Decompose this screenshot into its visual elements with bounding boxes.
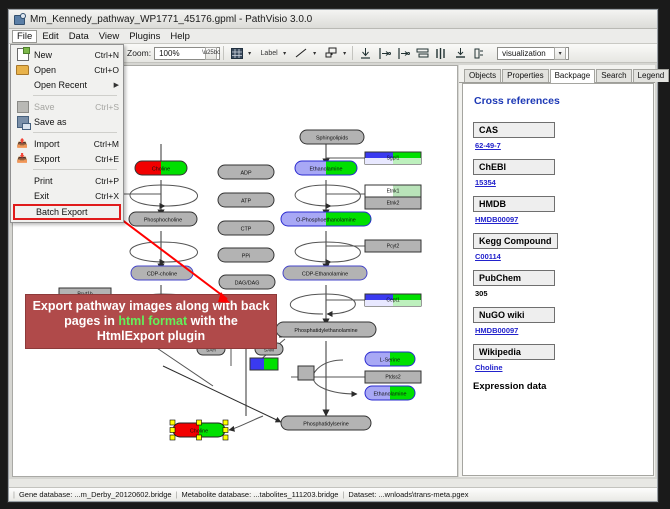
annotation-line-1: Export pathway images along with back [33, 299, 270, 314]
svg-text:Pcyt2: Pcyt2 [387, 244, 400, 250]
group-icon[interactable] [471, 45, 488, 61]
menu-item-print[interactable]: Print Ctrl+P [11, 173, 123, 188]
visualization-chevron-icon[interactable]: ▾ [554, 47, 566, 60]
menu-item-open-accel: Ctrl+O [88, 65, 119, 75]
shape-icon[interactable] [323, 45, 340, 61]
tab-objects[interactable]: Objects [464, 69, 501, 82]
svg-text:Cept1: Cept1 [386, 298, 400, 304]
menu-item-batch-export-label: Batch Export [36, 207, 117, 217]
status-divider-0: | [13, 490, 15, 499]
label-icon[interactable]: Label [258, 45, 280, 61]
svg-text:Ethanolamine: Ethanolamine [374, 391, 407, 397]
menu-item-import[interactable]: 📤 Import Ctrl+M [11, 136, 123, 151]
xref-db-wikipedia: Wikipedia [473, 344, 555, 360]
shape-tool[interactable]: ▾ [322, 45, 346, 61]
svg-text:CTP: CTP [241, 226, 252, 232]
menu-item-print-accel: Ctrl+P [89, 176, 119, 186]
stack-icon[interactable] [452, 45, 469, 61]
chevron-down-icon[interactable]: \u25bc [205, 47, 217, 60]
application-window: Mm_Kennedy_pathway_WP1771_45176.gpml - P… [8, 9, 658, 502]
toolbar-separator-2 [352, 46, 353, 60]
xref-link-kegg[interactable]: C00114 [475, 252, 643, 261]
label-chevron-icon[interactable]: ▾ [283, 50, 286, 57]
menu-item-save-accel: Ctrl+S [89, 102, 119, 112]
svg-text:O-Phosphoethanolamine: O-Phosphoethanolamine [296, 217, 356, 223]
menu-item-print-label: Print [34, 176, 89, 186]
xref-db-pubchem: PubChem [473, 270, 555, 286]
svg-text:CDP-Ethanolamine: CDP-Ethanolamine [302, 271, 348, 277]
menu-item-save[interactable]: Save Ctrl+S [11, 99, 123, 114]
align-left-icon[interactable] [376, 45, 393, 61]
blank-icon-3 [15, 189, 30, 202]
new-file-icon [15, 48, 30, 61]
status-divider-1: | [176, 490, 178, 499]
save-icon [15, 100, 30, 113]
line-chevron-icon[interactable]: ▾ [313, 50, 316, 57]
window-title: Mm_Kennedy_pathway_WP1771_45176.gpml - P… [30, 14, 312, 25]
xref-value-pubchem: 305 [475, 289, 643, 298]
menu-plugins[interactable]: Plugins [124, 30, 165, 43]
submenu-arrow-icon: ▶ [114, 81, 119, 89]
blank-icon-2 [15, 174, 30, 187]
xref-row-kegg: Kegg Compound C00114 [473, 231, 643, 261]
svg-text:Choline: Choline [190, 428, 208, 434]
open-folder-icon [15, 63, 30, 76]
xref-link-nugo[interactable]: HMDB00097 [475, 326, 643, 335]
xref-row-hmdb: HMDB HMDB00097 [473, 194, 643, 224]
xref-row-pubchem: PubChem 305 [473, 268, 643, 298]
zoom-combobox[interactable]: 100% \u25bc [154, 47, 220, 60]
pathvisio-icon [13, 13, 25, 25]
menu-item-import-accel: Ctrl+M [88, 139, 119, 149]
svg-text:Choline: Choline [152, 166, 170, 172]
menu-item-export-label: Export [34, 154, 89, 164]
visualization-combobox[interactable]: visualization ▾ [497, 47, 569, 60]
menu-item-save-as-label: Save as [34, 117, 113, 127]
menu-item-import-label: Import [34, 139, 88, 149]
file-dropdown-menu: New Ctrl+N Open Ctrl+O Open Recent ▶ Sav… [10, 44, 124, 223]
menu-item-open-recent-label: Open Recent [34, 80, 114, 90]
xref-db-kegg: Kegg Compound [473, 233, 558, 249]
menu-item-exit[interactable]: Exit Ctrl+X [11, 188, 123, 203]
status-metabolite-database: Metabolite database: ...tabolites_111203… [182, 490, 339, 499]
annotation-line-2-a: pages in [64, 314, 118, 328]
label-tool[interactable]: Label ▾ [257, 45, 286, 61]
svg-text:PPi: PPi [242, 253, 250, 259]
grid-chevron-icon[interactable]: ▾ [248, 50, 251, 57]
xref-db-cas: CAS [473, 122, 555, 138]
menu-data[interactable]: Data [64, 30, 94, 43]
import-icon: 📤 [15, 137, 30, 150]
svg-text:Etnk2: Etnk2 [387, 201, 400, 207]
status-bar: | Gene database: ...m_Derby_20120602.bri… [9, 487, 657, 501]
status-gene-database: Gene database: ...m_Derby_20120602.bridg… [19, 490, 172, 499]
cross-references-title: Cross references [474, 95, 643, 107]
svg-text:Sgpl1: Sgpl1 [387, 156, 400, 162]
zoom-label: Zoom: [127, 48, 151, 58]
status-divider-2: | [342, 490, 344, 499]
svg-text:Phosphatidylethanolamine: Phosphatidylethanolamine [294, 328, 357, 334]
svg-text:Phosphocholine: Phosphocholine [144, 217, 182, 223]
grid-tool[interactable]: ▾ [227, 45, 251, 61]
menu-item-batch-export[interactable]: Batch Export [13, 204, 121, 220]
xref-row-cas: CAS 62-49-7 [473, 120, 643, 150]
xref-link-cas[interactable]: 62-49-7 [475, 141, 643, 150]
tab-legend[interactable]: Legend [633, 69, 670, 82]
menu-item-open-label: Open [34, 65, 88, 75]
xref-row-nugo: NuGO wiki HMDB00097 [473, 305, 643, 335]
svg-text:Ethanolamine: Ethanolamine [310, 166, 343, 172]
export-icon: 📥 [15, 152, 30, 165]
xref-row-chebi: ChEBI 15354 [473, 157, 643, 187]
shape-chevron-icon[interactable]: ▾ [343, 50, 346, 57]
menu-item-new-label: New [34, 50, 89, 60]
blank-icon [15, 78, 30, 91]
blank-icon-4 [17, 206, 32, 219]
side-panel-tabs: Objects Properties Backpage Search Legen… [459, 69, 655, 83]
backpage-content: Cross references CAS 62-49-7 ChEBI 15354… [462, 83, 654, 476]
svg-text:Sphingolipids: Sphingolipids [316, 135, 348, 141]
menu-item-open[interactable]: Open Ctrl+O [11, 62, 123, 77]
xref-link-chebi[interactable]: 15354 [475, 178, 643, 187]
status-dataset: Dataset: ...wnloads\trans-meta.pgex [348, 490, 468, 499]
annotation-callout: Export pathway images along with back pa… [25, 294, 277, 349]
menu-edit[interactable]: Edit [37, 30, 63, 43]
zoom-value: 100% [159, 49, 179, 58]
menu-item-exit-accel: Ctrl+X [89, 191, 119, 201]
align-right-icon[interactable] [395, 45, 412, 61]
align-top-icon[interactable] [357, 45, 374, 61]
expression-data-title: Expression data [473, 381, 643, 392]
svg-text:ADP: ADP [240, 170, 251, 176]
distribute-horizontal-icon[interactable] [414, 45, 431, 61]
annotation-line-2: pages in html format with the [64, 314, 238, 329]
svg-text:L-Serine: L-Serine [380, 357, 400, 363]
xref-row-wikipedia: Wikipedia Choline [473, 342, 643, 372]
line-icon[interactable] [293, 45, 310, 61]
tab-properties[interactable]: Properties [502, 69, 548, 82]
menu-view[interactable]: View [94, 30, 124, 43]
side-panel: Objects Properties Backpage Search Legen… [459, 65, 655, 477]
menu-separator-3 [33, 169, 117, 170]
menu-item-save-label: Save [34, 102, 89, 112]
xref-db-nugo: NuGO wiki [473, 307, 555, 323]
svg-text:ATP: ATP [241, 198, 251, 204]
menu-bar: File Edit Data View Plugins Help [9, 29, 657, 44]
screenshot-frame: Mm_Kennedy_pathway_WP1771_45176.gpml - P… [0, 0, 670, 509]
menu-item-export-accel: Ctrl+E [89, 154, 119, 164]
distribute-vertical-icon[interactable] [433, 45, 450, 61]
tab-backpage[interactable]: Backpage [550, 69, 596, 83]
menu-item-open-recent[interactable]: Open Recent ▶ [11, 77, 123, 92]
window-title-bar: Mm_Kennedy_pathway_WP1771_45176.gpml - P… [9, 10, 657, 29]
svg-text:DAG/DAG: DAG/DAG [235, 280, 260, 286]
grid-icon[interactable] [228, 45, 245, 61]
annotation-highlight: html format [118, 314, 187, 328]
toolbar-separator [223, 46, 224, 60]
menu-item-save-as[interactable]: Save as [11, 114, 123, 129]
menu-item-new[interactable]: New Ctrl+N [11, 47, 123, 62]
xref-db-chebi: ChEBI [473, 159, 555, 175]
xref-db-hmdb: HMDB [473, 196, 555, 212]
menu-item-new-accel: Ctrl+N [89, 50, 119, 60]
menu-help[interactable]: Help [165, 30, 195, 43]
save-as-icon [15, 115, 30, 128]
menu-item-exit-label: Exit [34, 191, 89, 201]
annotation-line-2-b: with the [187, 314, 238, 328]
annotation-line-3: HtmlExport plugin [97, 329, 205, 344]
xref-link-hmdb[interactable]: HMDB00097 [475, 215, 643, 224]
menu-separator-1 [33, 95, 117, 96]
menu-item-export[interactable]: 📥 Export Ctrl+E [11, 151, 123, 166]
xref-link-wikipedia[interactable]: Choline [475, 363, 643, 372]
svg-text:Ptdss2: Ptdss2 [385, 375, 401, 381]
menu-file[interactable]: File [12, 30, 37, 43]
line-tool[interactable]: ▾ [292, 45, 316, 61]
svg-text:CDP-choline: CDP-choline [147, 271, 177, 277]
svg-text:Phosphatidylserine: Phosphatidylserine [303, 421, 349, 427]
visualization-value: visualization [502, 49, 546, 58]
tab-search[interactable]: Search [596, 69, 631, 82]
menu-separator-2 [33, 132, 117, 133]
svg-text:Etnk1: Etnk1 [387, 189, 400, 195]
